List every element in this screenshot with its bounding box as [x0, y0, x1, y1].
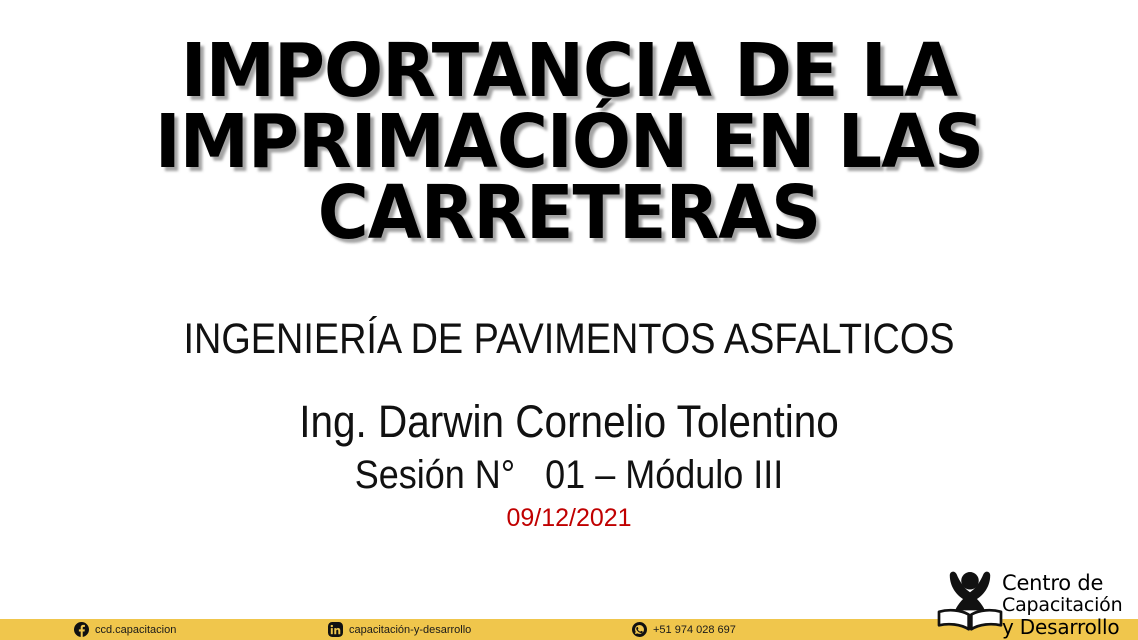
footer-label-whatsapp: +51 974 028 697 — [653, 624, 736, 636]
footer-item-linkedin[interactable]: capacitación-y-desarrollo — [328, 619, 471, 640]
presenter-name: Ing. Darwin Cornelio Tolentino — [57, 396, 1081, 448]
logo-line-2: Capacitación — [1002, 596, 1136, 615]
footer-label-linkedin: capacitación-y-desarrollo — [349, 624, 471, 636]
footer-label-facebook: ccd.capacitacion — [95, 624, 176, 636]
linkedin-icon — [328, 622, 343, 637]
presentation-slide: IMPORTANCIA DE LA IMPRIMACIÓN EN LAS CAR… — [0, 0, 1138, 640]
footer-item-facebook[interactable]: ccd.capacitacion — [74, 619, 176, 640]
title-line-2: IMPRIMACIÓN EN LAS — [34, 107, 1104, 178]
logo-wordmark: Centro de Capacitación y Desarrollo — [1002, 573, 1136, 637]
slide-title: IMPORTANCIA DE LA IMPRIMACIÓN EN LAS CAR… — [0, 36, 1138, 249]
book-person-logo-icon — [936, 570, 1004, 632]
slide-date: 09/12/2021 — [0, 503, 1138, 533]
footer-item-whatsapp[interactable]: +51 974 028 697 — [632, 619, 736, 640]
organization-logo: Centro de Capacitación y Desarrollo — [936, 570, 1136, 634]
logo-line-3: y Desarrollo — [1002, 617, 1136, 637]
whatsapp-icon — [632, 622, 647, 637]
title-line-1: IMPORTANCIA DE LA — [34, 36, 1104, 107]
slide-subtitle: INGENIERÍA DE PAVIMENTOS ASFALTICOS — [68, 314, 1069, 364]
logo-line-1: Centro de — [1002, 573, 1136, 594]
session-label: Sesión N° 01 – Módulo III — [57, 452, 1081, 498]
title-line-3: CARRETERAS — [34, 178, 1104, 249]
facebook-icon — [74, 622, 89, 637]
